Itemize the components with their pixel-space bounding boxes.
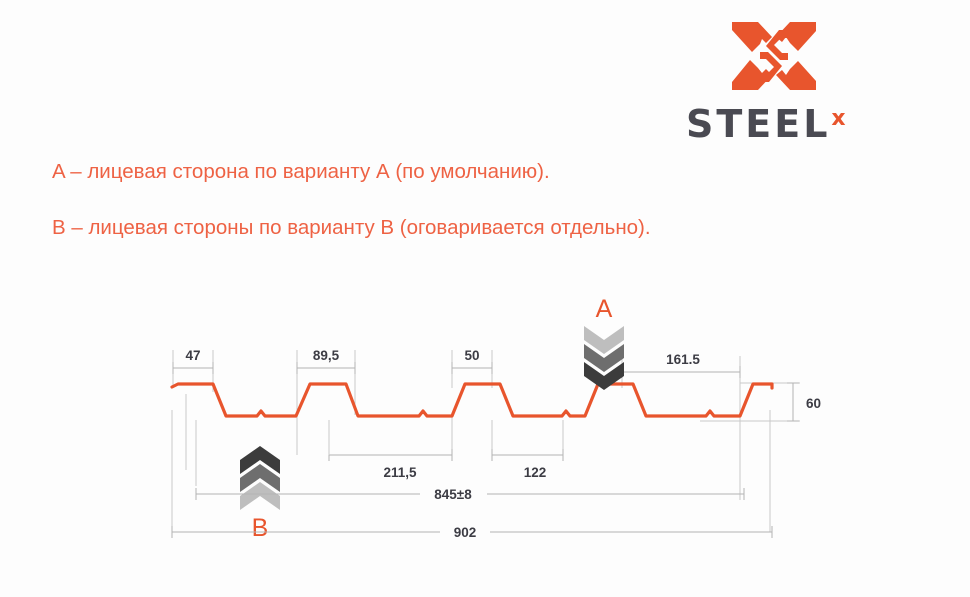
steelx-x-mark-icon xyxy=(732,18,816,94)
steelx-logo: STEELx xyxy=(686,18,876,146)
dim-label-effective-width: 845±8 xyxy=(434,487,472,502)
wordmark-steel: STEEL xyxy=(686,102,830,146)
marker-a: A xyxy=(584,295,624,390)
steelx-wordmark: STEELx xyxy=(686,104,876,144)
legend-line-a: A – лицевая сторона по варианту А (по ум… xyxy=(52,160,550,184)
marker-b-label: B xyxy=(252,514,269,542)
top-dimension-lines xyxy=(173,362,740,378)
dim-label-top-flange-left: 47 xyxy=(185,348,200,363)
dim-label-pitch: 161.5 xyxy=(666,352,700,367)
wordmark-x-superscript: x xyxy=(831,106,845,131)
marker-a-label: A xyxy=(596,295,613,323)
dim-label-valley-pitch: 211,5 xyxy=(383,465,417,480)
dim-label-valley-width: 122 xyxy=(524,465,547,480)
dim-label-height: 60 xyxy=(806,396,821,411)
witness-lines xyxy=(172,350,800,532)
height-dimension-line xyxy=(787,383,799,421)
mid-dimension-lines xyxy=(329,449,563,461)
drawing-page: STEELx A – лицевая сторона по варианту А… xyxy=(0,0,970,597)
dim-label-crest-width: 89,5 xyxy=(313,348,340,363)
dim-label-crest-top: 50 xyxy=(464,348,479,363)
corrugated-profile-line xyxy=(172,384,772,416)
legend-line-b: B – лицевая стороны по варианту B (огова… xyxy=(52,216,651,240)
profile-technical-drawing: 47 89,5 50 161.5 A 60 xyxy=(0,270,970,570)
marker-a-chevron-icon xyxy=(584,326,624,390)
dim-label-total-width: 902 xyxy=(454,525,477,540)
marker-b-chevron-icon xyxy=(240,446,280,510)
